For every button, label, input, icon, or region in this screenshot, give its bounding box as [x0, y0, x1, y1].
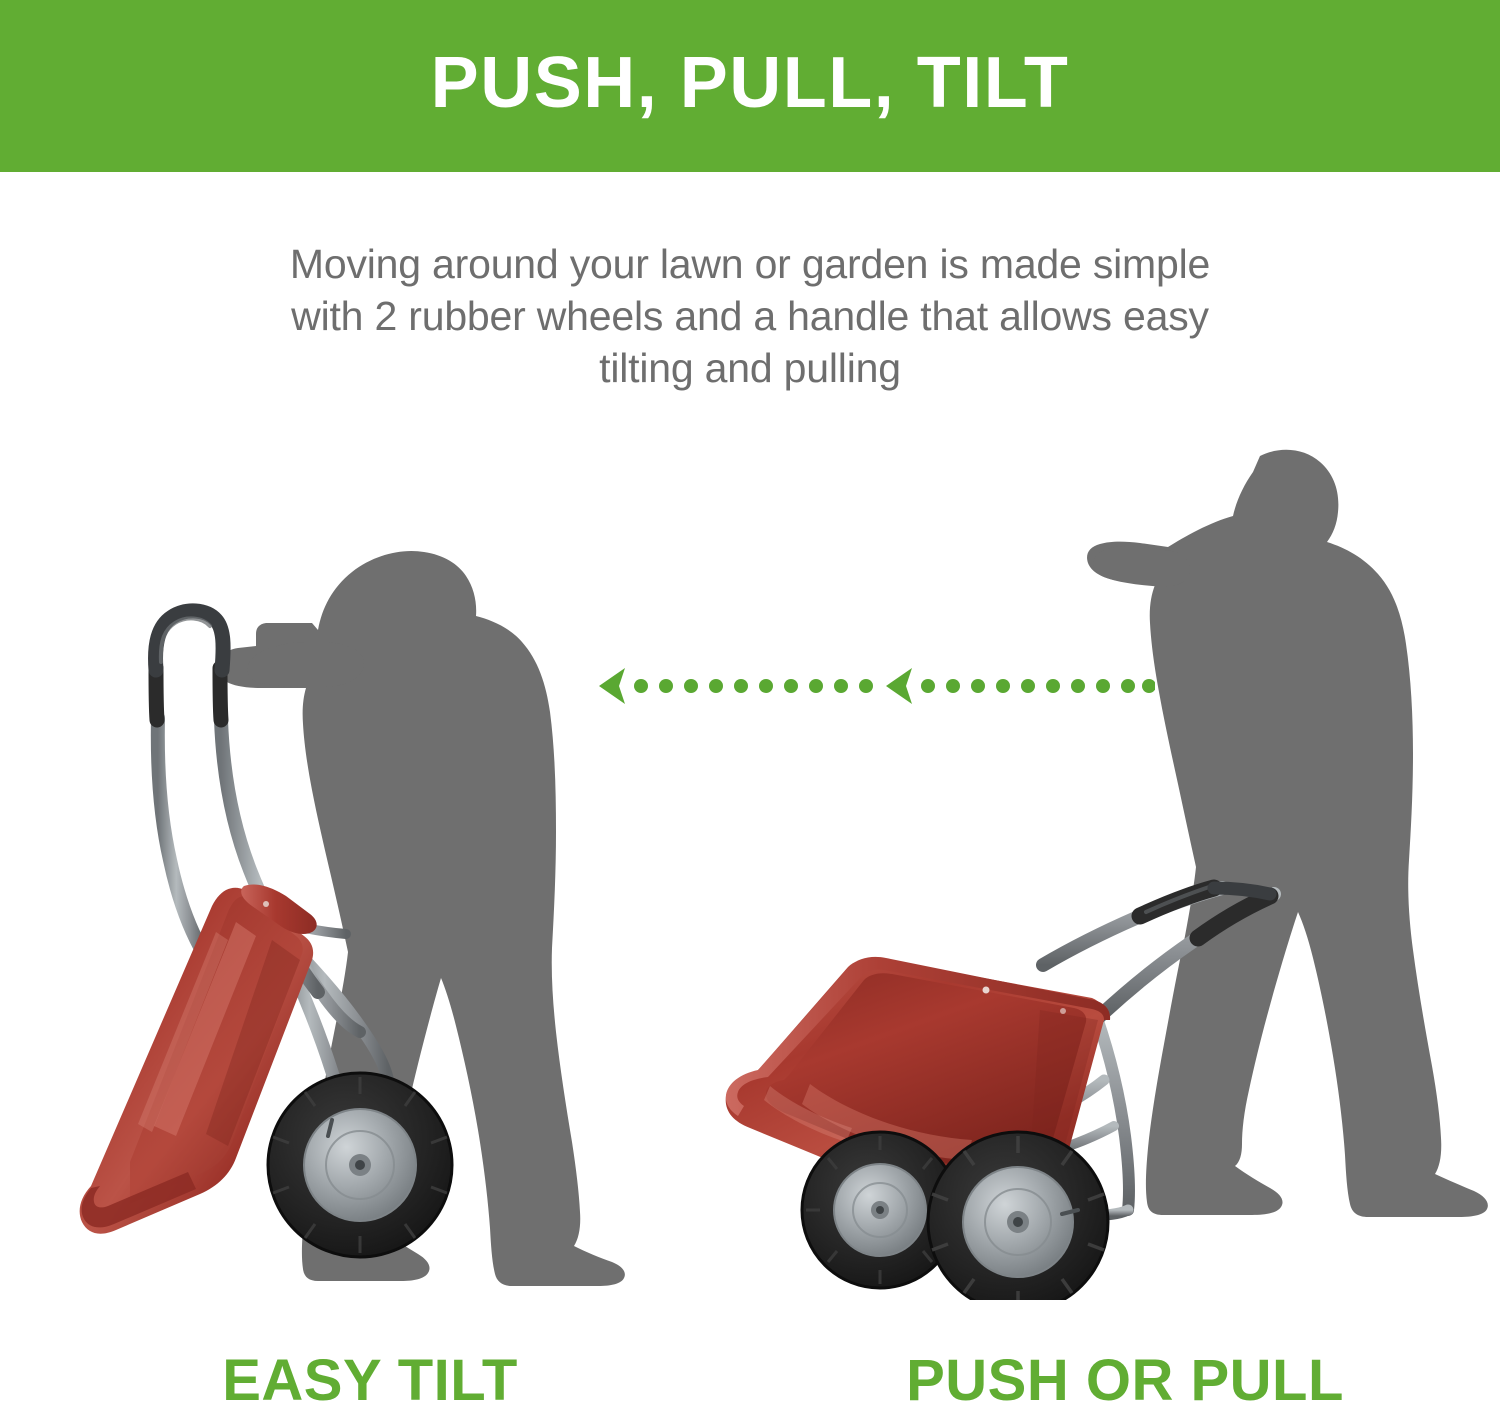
frame-tube-left: [158, 718, 204, 954]
frame-lower-rail: [1097, 1018, 1129, 1210]
dotted-direction-arrows: [595, 660, 1155, 712]
subtitle-text: Moving around your lawn or garden is mad…: [250, 238, 1250, 394]
easy-tilt-scene: [60, 420, 660, 1300]
handle-crossbar: [1214, 888, 1270, 894]
wheel-front: [928, 1132, 1108, 1300]
infographic-page: PUSH, PULL, TILT Moving around your lawn…: [0, 0, 1500, 1418]
caption-push-or-pull: PUSH OR PULL: [875, 1352, 1375, 1410]
arrow-head-left-1: [599, 668, 625, 704]
caption-easy-tilt: EASY TILT: [120, 1352, 620, 1410]
illustration-stage: [0, 420, 1500, 1300]
arrow-head-left-2: [886, 668, 912, 704]
push-or-pull-scene: [700, 420, 1500, 1300]
silhouette-man-pulling: [1087, 450, 1488, 1217]
wheel-front: [268, 1073, 452, 1257]
page-title: PUSH, PULL, TILT: [0, 0, 1500, 172]
